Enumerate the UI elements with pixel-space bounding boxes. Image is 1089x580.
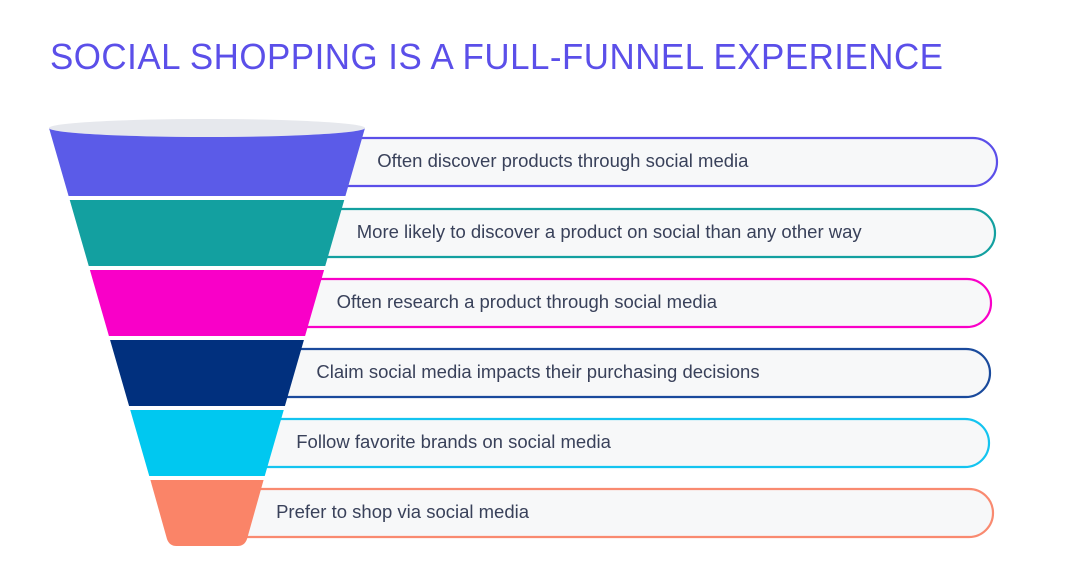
funnel-stage-label: More likely to discover a product on soc… [357,223,979,242]
funnel-band-group [49,128,365,546]
label-pill-group [237,138,997,537]
funnel-graphic [0,0,1089,580]
band-follow [130,410,284,476]
band-prefer [150,480,263,546]
funnel-stage-label: Claim social media impacts their purchas… [316,363,974,382]
funnel-infographic: SOCIAL SHOPPING IS A FULL-FUNNEL EXPERIE… [0,0,1089,580]
band-research [90,270,324,336]
band-more-likely [70,200,345,266]
funnel-stage-label: Follow favorite brands on social media [296,433,973,452]
band-discover [49,128,365,196]
funnel-stage-label: Often research a product through social … [337,293,975,312]
band-impacts [110,340,304,406]
funnel-stage-label: Prefer to shop via social media [276,503,977,522]
funnel-top-ellipse [49,119,365,137]
funnel-stage-label: Often discover products through social m… [377,152,981,171]
